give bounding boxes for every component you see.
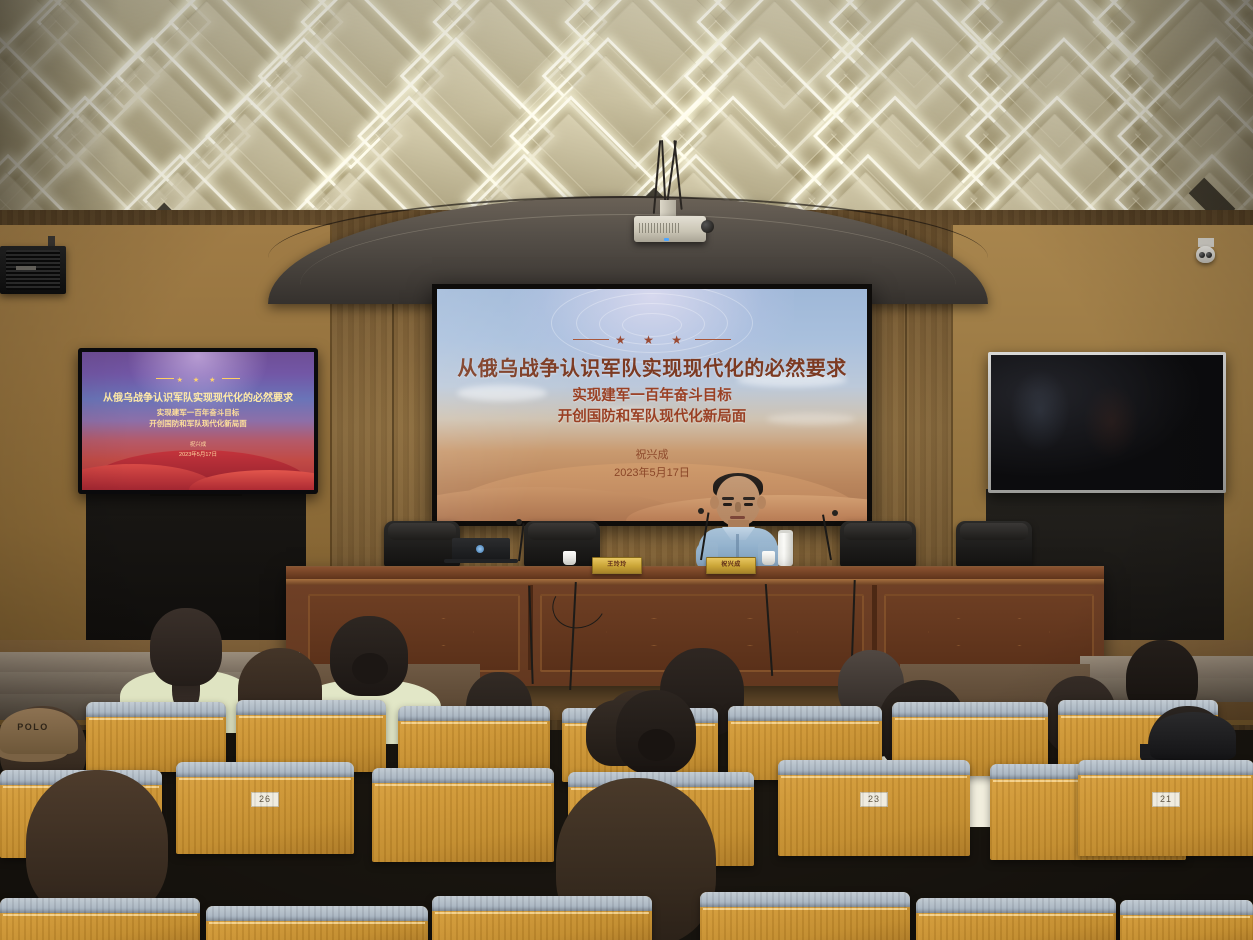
seat-trim (703, 908, 907, 910)
camera-lens (1199, 252, 1205, 258)
seat-trim (1123, 916, 1250, 918)
seat-trim (89, 718, 223, 720)
speaker-eye-left (723, 503, 732, 506)
seat-cushion (176, 762, 354, 777)
seat-trim (179, 778, 351, 780)
left-monitor-date: 2023年5月17日 (82, 450, 314, 458)
camera-lens-secondary (1206, 252, 1212, 258)
audience-seat[interactable] (700, 892, 910, 940)
audience-head (150, 608, 222, 686)
seat-cushion (728, 706, 882, 721)
head-table-lip (286, 579, 1104, 585)
seat-cushion (916, 898, 1116, 913)
seat-cushion (700, 892, 910, 907)
slide-author: 祝兴成 (437, 446, 867, 462)
seat-trim (1081, 776, 1251, 778)
head-table-top (286, 566, 1104, 580)
desk-chair[interactable] (524, 521, 600, 567)
seat-number-label: 23 (860, 792, 888, 807)
speaker-brow-right (743, 497, 755, 500)
thermos (778, 533, 793, 566)
desk-chair[interactable] (840, 521, 916, 567)
seat-cushion (236, 700, 386, 715)
wall-speaker-icon (0, 246, 66, 294)
hair-bun (352, 653, 388, 684)
seat-number-label: 21 (1152, 792, 1180, 807)
speaker-ear-right (757, 496, 766, 509)
conference-hall-photo: ★ ★ ★ 从俄乌战争认识军队实现现代化的必然要求 实现建军一百年奋斗目标 开创… (0, 0, 1253, 940)
left-monitor-subtitle-line1: 实现建军一百年奋斗目标 (82, 407, 314, 418)
right-monitor[interactable] (988, 352, 1226, 493)
seat-cushion (892, 702, 1048, 717)
slide-date: 2023年5月17日 (437, 464, 867, 480)
seat-trim (435, 912, 649, 914)
speaker-ear-left (710, 496, 719, 509)
audience-seat[interactable] (206, 906, 428, 940)
microphone-head (698, 508, 704, 514)
seat-cushion (0, 898, 200, 913)
paper-cup (762, 551, 775, 565)
seat-cushion (432, 896, 652, 911)
projector-icon (634, 216, 706, 242)
left-monitor-title: 从俄乌战争认识军队实现现代化的必然要求 (82, 389, 314, 404)
seat-trim (895, 718, 1045, 720)
hair-bun (638, 729, 675, 761)
seat-trim (239, 716, 383, 718)
microphone-head (832, 510, 838, 516)
seat-trim (3, 914, 197, 916)
seat-trim (401, 722, 547, 724)
slide-subtitle-line2: 开创国防和军队现代化新局面 (437, 407, 867, 428)
audience-seat[interactable] (432, 896, 652, 940)
seat-cushion (372, 768, 554, 783)
microphone-head (516, 519, 522, 525)
audience-seat[interactable] (916, 898, 1116, 940)
seat-trim (209, 922, 425, 924)
projected-slide: ★ ★ ★ 从俄乌战争认识军队实现现代化的必然要求 实现建军一百年奋斗目标 开创… (437, 289, 867, 521)
laptop[interactable] (452, 538, 510, 560)
black-cap-icon (1150, 712, 1236, 760)
laptop-logo (476, 545, 484, 553)
seat-cushion (86, 702, 226, 717)
slide-subtitle: 实现建军一百年奋斗目标 开创国防和军队现代化新局面 (437, 386, 867, 429)
right-monitor-reflection-warm (1084, 385, 1140, 458)
projector-lens (701, 220, 714, 233)
seat-cushion (778, 760, 970, 775)
seat-trim (919, 914, 1113, 916)
seat-cushion (1120, 900, 1253, 915)
speaker-nose (735, 502, 741, 512)
left-monitor[interactable]: ★ ★ ★ 从俄乌战争认识军队实现现代化的必然要求 实现建军一百年奋斗目标 开创… (78, 348, 318, 494)
audience-seat[interactable]: 23 (778, 760, 970, 856)
nameplate-right: 祝兴成 (706, 557, 756, 574)
right-monitor-screen (991, 355, 1223, 490)
audience-seat[interactable]: 21 (1078, 760, 1253, 856)
slide-title: 从俄乌战争认识军队实现现代化的必然要求 (437, 352, 867, 381)
projector-vent (639, 223, 679, 233)
left-monitor-star-divider: ★ ★ ★ (82, 376, 314, 384)
head-table-panel (884, 594, 1094, 672)
security-camera-icon (1196, 246, 1215, 263)
speaker-mouth (730, 516, 745, 519)
slide-star-divider: ★ ★ ★ (437, 333, 867, 347)
seat-cushion (398, 706, 550, 721)
desk-chair[interactable] (956, 521, 1032, 567)
seat-trim (731, 722, 879, 724)
audience-seat[interactable]: 26 (176, 762, 354, 854)
speaker-brow-left (722, 497, 734, 500)
nameplate-left: 王玲玲 (592, 557, 642, 574)
projector-status-led (664, 238, 669, 241)
audience-seat[interactable] (1120, 900, 1253, 940)
speaker-eye-right (744, 503, 753, 506)
left-monitor-subtitle-line2: 开创国防和军队现代化新局面 (82, 418, 314, 429)
slide-subtitle-line1: 实现建军一百年奋斗目标 (437, 386, 867, 407)
seat-trim (375, 784, 551, 786)
audience-seat[interactable] (372, 768, 554, 862)
left-monitor-author: 祝兴成 (82, 440, 314, 448)
left-monitor-subtitle: 实现建军一百年奋斗目标 开创国防和军队现代化新局面 (82, 407, 314, 430)
laptop-base (444, 559, 518, 563)
seat-cushion (206, 906, 428, 921)
seat-cushion (1078, 760, 1253, 775)
projection-screen: ★ ★ ★ 从俄乌战争认识军队实现现代化的必然要求 实现建军一百年奋斗目标 开创… (432, 284, 872, 526)
polo-cap-text: POLO (4, 722, 62, 732)
left-monitor-screen: ★ ★ ★ 从俄乌战争认识军队实现现代化的必然要求 实现建军一百年奋斗目标 开创… (82, 352, 314, 490)
paper-cup (563, 551, 576, 565)
speaker-badge (16, 266, 36, 270)
speaker-grille (6, 250, 60, 290)
audience-seat[interactable] (0, 898, 200, 940)
seat-trim (781, 776, 967, 778)
right-monitor-reflection (1010, 369, 1070, 453)
seat-number-label: 26 (251, 792, 279, 807)
